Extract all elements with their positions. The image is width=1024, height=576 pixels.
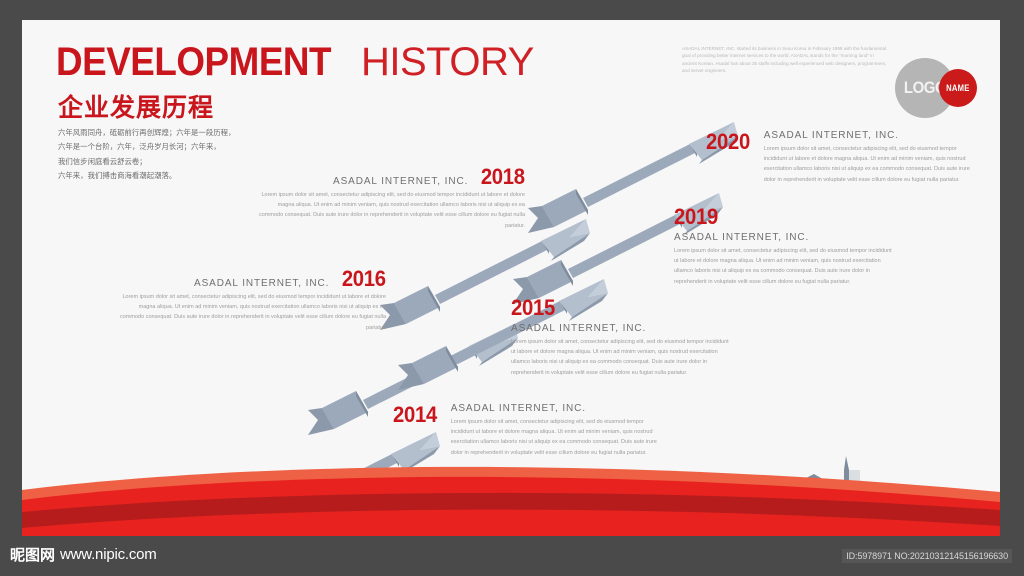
- name-badge-text: NAME: [946, 83, 970, 93]
- milestone-body-2018: Lorem ipsum dolor sit amet, consectetur …: [255, 190, 525, 231]
- intro-line: 六年是一个台阶，六年，泛舟岁月长河；六年来，: [58, 140, 298, 154]
- image-id-number: ID:5978971 NO:20210312145156196630: [842, 549, 1012, 563]
- milestone-body-2015: Lorem ipsum dolor sit amet, consectetur …: [511, 337, 729, 378]
- name-badge-icon: NAME: [939, 69, 977, 107]
- nipic-logo-text: 昵图网: [10, 544, 55, 565]
- year-label-2016: 2016: [342, 268, 386, 290]
- nipic-brand[interactable]: 昵图网 www.nipic.com: [10, 544, 157, 565]
- year-label-2018: 2018: [481, 166, 525, 188]
- title-history: HISTORY: [361, 40, 534, 84]
- year-label-2019: 2019: [674, 206, 875, 228]
- milestone-body-2019: Lorem ipsum dolor sit amet, consectetur …: [674, 246, 892, 287]
- milestone-heading-2019: ASADAL INTERNET, INC.: [674, 231, 892, 244]
- milestone-2020: 2020 ASADAL INTERNET, INC. Lorem ipsum d…: [706, 129, 994, 185]
- milestone-2015: 2015 ASADAL INTERNET, INC. Lorem ipsum d…: [511, 297, 729, 378]
- milestone-heading-2015: ASADAL INTERNET, INC.: [511, 322, 729, 335]
- year-label-2020: 2020: [706, 131, 750, 153]
- footer-bar: 昵图网 www.nipic.com ID:5978971 NO:20210312…: [0, 536, 1024, 576]
- poster-root: DEVELOPMENTHISTORY 企业发展历程 六年风雨同舟，砥砺前行再创辉…: [0, 0, 1024, 576]
- milestone-body-2020: Lorem ipsum dolor sit amet, consectetur …: [764, 144, 976, 185]
- intro-line: 六年风雨同舟，砥砺前行再创辉煌；六年是一段历程，: [58, 126, 298, 140]
- nipic-url[interactable]: www.nipic.com: [60, 546, 157, 563]
- poster-canvas: DEVELOPMENTHISTORY 企业发展历程 六年风雨同舟，砥砺前行再创辉…: [22, 20, 1000, 556]
- page-title: DEVELOPMENTHISTORY: [56, 42, 534, 82]
- milestone-2018: ASADAL INTERNET, INC. 2018 Lorem ipsum d…: [255, 166, 525, 231]
- corporate-blurb: ASADAL INTERNET, INC. started its busine…: [682, 45, 888, 75]
- milestone-heading-2018: ASADAL INTERNET, INC.: [333, 175, 468, 188]
- milestone-2019: 2019 ASADAL INTERNET, INC. Lorem ipsum d…: [674, 206, 892, 287]
- year-label-2015: 2015: [511, 297, 712, 319]
- milestone-2016: ASADAL INTERNET, INC. 2016 Lorem ipsum d…: [118, 268, 386, 333]
- title-development: DEVELOPMENT: [56, 42, 331, 82]
- logo: LOGO NAME: [895, 58, 1000, 120]
- page-title-chinese: 企业发展历程: [58, 88, 214, 124]
- milestone-heading-2016: ASADAL INTERNET, INC.: [194, 277, 329, 290]
- milestone-heading-2020: ASADAL INTERNET, INC.: [764, 129, 976, 142]
- milestone-body-2016: Lorem ipsum dolor sit amet, consectetur …: [118, 292, 386, 333]
- milestone-heading-2014: ASADAL INTERNET, INC.: [451, 402, 663, 415]
- year-label-2014: 2014: [393, 404, 437, 426]
